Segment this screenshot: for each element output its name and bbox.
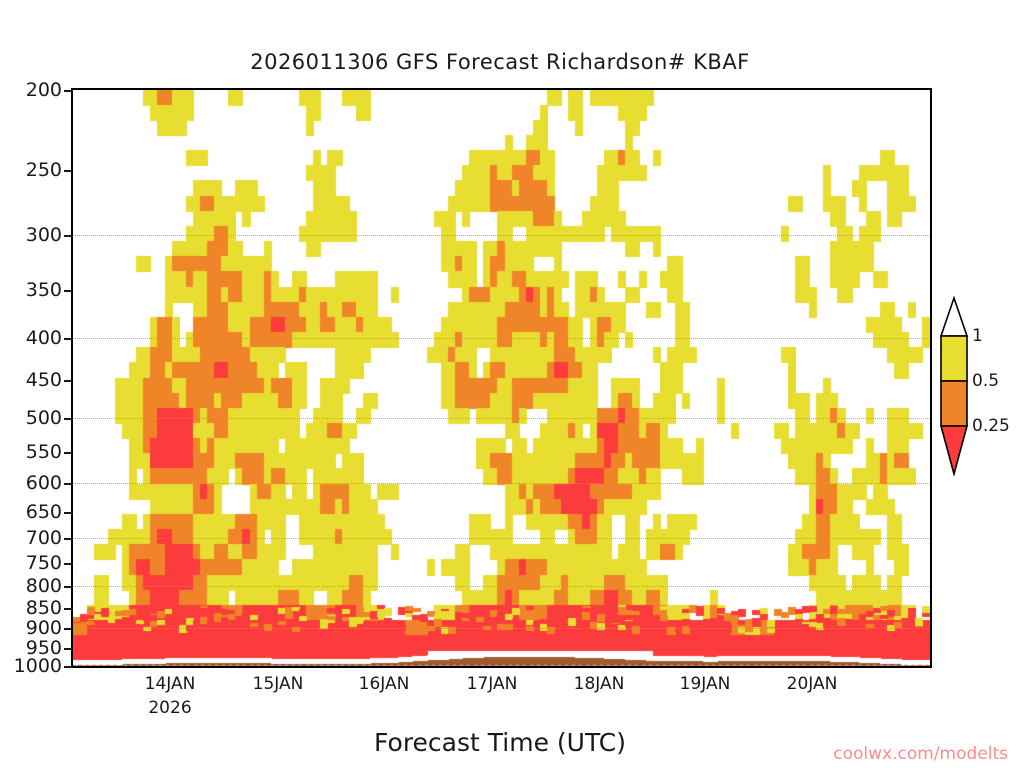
watermark: coolwx.com/modelts: [833, 744, 1008, 764]
y-axis-tick-label: 1000: [0, 655, 62, 677]
colorbar-under-arrow: [941, 426, 967, 474]
y-axis-tick-mark: [64, 380, 73, 382]
y-axis-tick-label: 800: [0, 575, 62, 597]
x-axis-tick-label: 19JAN: [680, 674, 731, 694]
y-axis-tick-label: 400: [0, 327, 62, 349]
x-axis-tick-label: 17JAN: [467, 674, 518, 694]
y-axis-tick-mark: [64, 648, 73, 650]
y-axis-tick-mark: [64, 452, 73, 454]
y-axis-tick-label: 600: [0, 472, 62, 494]
page-title: 2026011306 GFS Forecast Richardson# KBAF: [0, 50, 1000, 74]
y-axis-tick-mark: [64, 235, 73, 237]
y-axis-tick-label: 200: [0, 79, 62, 101]
y-axis-tick-mark: [64, 666, 73, 668]
y-axis-tick-label: 550: [0, 441, 62, 463]
y-axis-tick-mark: [64, 512, 73, 514]
y-axis-tick-mark: [64, 628, 73, 630]
x-axis-tick-label: 18JAN: [574, 674, 625, 694]
y-axis-tick-mark: [64, 608, 73, 610]
y-axis-tick-label: 450: [0, 369, 62, 391]
colorbar-swatches: [938, 296, 972, 476]
y-axis-tick-label: 700: [0, 527, 62, 549]
colorbar-band-orange: [941, 381, 967, 426]
x-axis-tick-label: 20JAN: [787, 674, 838, 694]
colorbar-over-arrow: [941, 298, 967, 336]
colorbar-label-0.5: 0.5: [972, 371, 999, 391]
y-axis-tick-mark: [64, 483, 73, 485]
gridline: [73, 666, 930, 667]
colorbar-label-1: 1: [972, 326, 983, 346]
colorbar-label-0.25: 0.25: [972, 416, 1010, 436]
y-axis-tick-mark: [64, 90, 73, 92]
y-axis-tick-mark: [64, 290, 73, 292]
y-axis-tick-label: 500: [0, 407, 62, 429]
x-axis-tick-label: 16JAN: [359, 674, 410, 694]
y-axis-tick-label: 850: [0, 597, 62, 619]
x-axis-tick-sublabel: 2026: [148, 698, 191, 718]
colorbar-band-yellow: [941, 336, 967, 381]
y-axis-tick-label: 350: [0, 279, 62, 301]
heatmap-canvas: [73, 90, 930, 666]
y-axis-tick-mark: [64, 170, 73, 172]
chart-page: 2026011306 GFS Forecast Richardson# KBAF…: [0, 0, 1024, 768]
y-axis-tick-mark: [64, 538, 73, 540]
y-axis-tick-mark: [64, 418, 73, 420]
y-axis-tick-label: 650: [0, 501, 62, 523]
y-axis-tick-label: 750: [0, 552, 62, 574]
y-axis-tick-label: 250: [0, 159, 62, 181]
y-axis-tick-mark: [64, 338, 73, 340]
y-axis-tick-mark: [64, 586, 73, 588]
y-axis-tick-label: 300: [0, 224, 62, 246]
x-axis-tick-label: 15JAN: [253, 674, 304, 694]
y-axis-tick-mark: [64, 563, 73, 565]
x-axis-tick-label: 14JAN: [145, 674, 196, 694]
colorbar: 1 0.5 0.25: [938, 296, 1024, 476]
heatmap-plot-area: [71, 88, 932, 668]
